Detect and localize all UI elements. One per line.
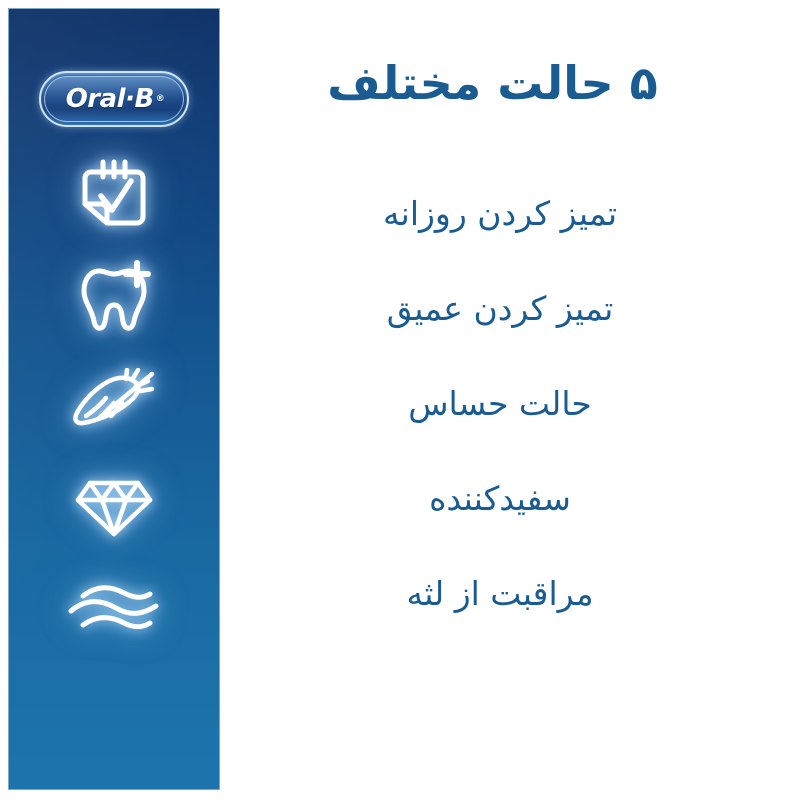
product-feature-poster: Oral·B® xyxy=(0,0,800,800)
logo-wordmark-text: Oral·B xyxy=(66,84,154,114)
feather-icon xyxy=(68,368,160,434)
calendar-check-icon xyxy=(78,155,150,231)
mode-list: تمیز کردن روزانه تمیز کردن عمیق حالت حسا… xyxy=(240,166,760,641)
mode-icon-stack xyxy=(9,141,219,661)
tooth-plus-icon xyxy=(75,259,153,335)
list-item: سفیدکننده xyxy=(240,451,760,546)
list-item: تمیز کردن روزانه xyxy=(240,166,760,261)
oral-b-logo: Oral·B® xyxy=(39,71,189,127)
waves-icon xyxy=(66,580,162,638)
icon-slot-sensitive xyxy=(9,349,219,453)
icon-slot-gum-care xyxy=(9,557,219,661)
mode-content-area: ۵ حالت مختلف تمیز کردن روزانه تمیز کردن … xyxy=(240,0,760,800)
icon-slot-deep-clean xyxy=(9,245,219,349)
list-item: مراقبت از لثه xyxy=(240,546,760,641)
left-blue-panel: Oral·B® xyxy=(8,8,220,790)
diamond-icon xyxy=(74,470,154,540)
icon-slot-daily-clean xyxy=(9,141,219,245)
icon-slot-whitening xyxy=(9,453,219,557)
logo-wordmark: Oral·B® xyxy=(39,71,189,127)
registered-trademark-icon: ® xyxy=(156,94,165,104)
page-title: ۵ حالت مختلف xyxy=(240,56,745,111)
list-item: حالت حساس xyxy=(240,356,760,451)
list-item: تمیز کردن عمیق xyxy=(240,261,760,356)
